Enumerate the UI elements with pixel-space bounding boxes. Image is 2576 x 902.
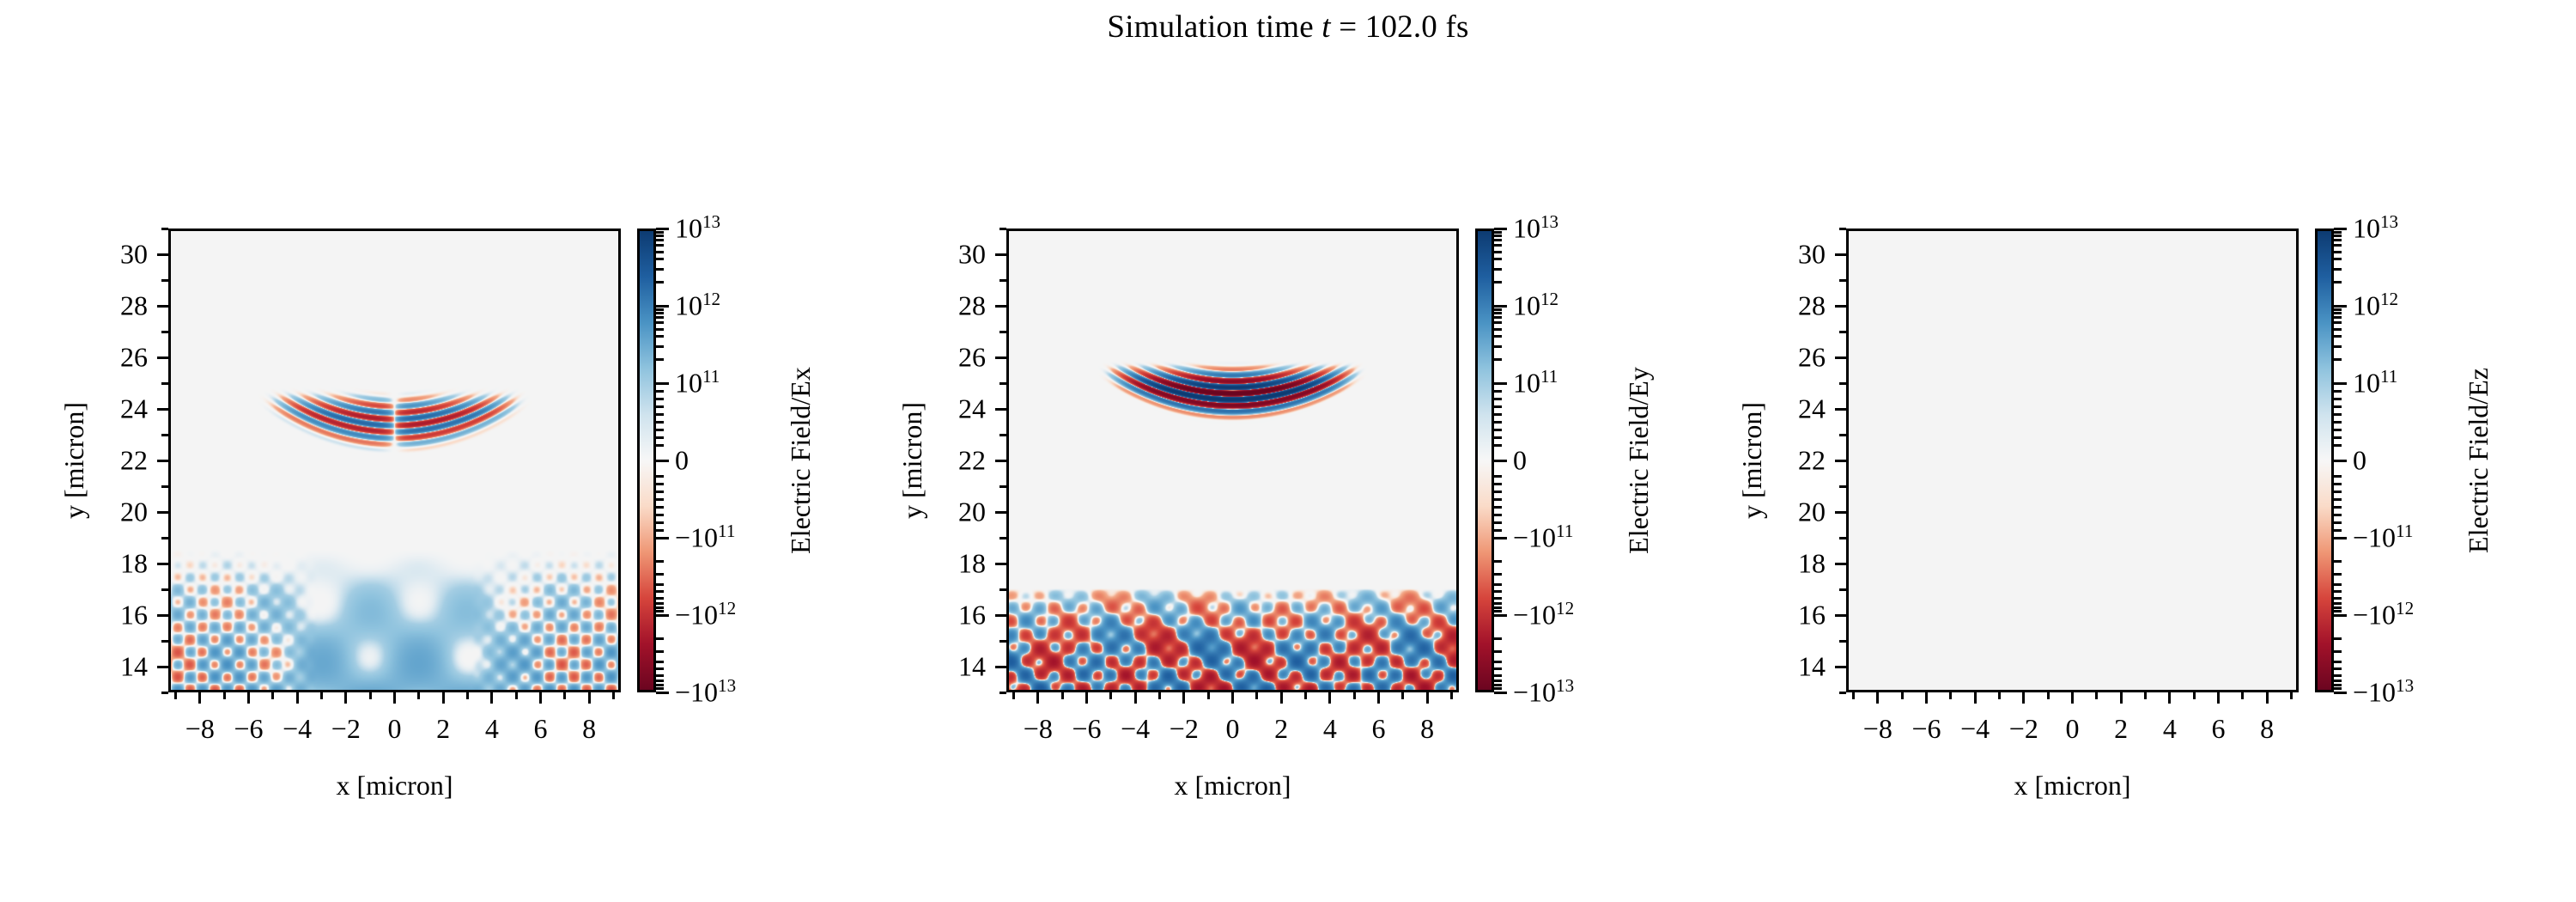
colorbar-ticklabel-ez-2: 1011 (2353, 368, 2397, 399)
colorbar-ticklabel-ey-3: 0 (1513, 445, 1527, 477)
colorbar-minortick-ey-0 (1494, 444, 1502, 447)
xtick-major-ez-3 (2022, 692, 2025, 704)
xtick-minor-ey--1 (1207, 692, 1210, 699)
ytick-major-ez-3 (1835, 408, 1846, 411)
colorbar-minortick-ex-13 (656, 521, 664, 524)
colorbar-minortick-ey-12 (1494, 398, 1502, 400)
ytick-label-ez-6: 18 (1776, 548, 1826, 580)
colorbar-minortick-ey-40 (1494, 244, 1502, 247)
xaxis-label-ex: x [micron] (337, 770, 453, 801)
colorbar-minortick-ey-24 (1494, 321, 1502, 324)
colorbar-minortick-ex-1 (656, 475, 664, 478)
ytick-minor-ez-31 (1839, 228, 1846, 230)
xtick-major-ex-1 (247, 692, 250, 704)
xtick-major-ez-5 (2120, 692, 2123, 704)
colorbar-minortick-ex-19 (656, 573, 664, 576)
ytick-minor-ex-27 (161, 331, 168, 333)
ytick-minor-ey-31 (999, 228, 1006, 230)
field-heatmap-ex (171, 231, 618, 690)
colorbar-tick-ex-3 (656, 460, 669, 462)
colorbar-minortick-ex-27 (656, 602, 664, 605)
xtick-major-ey-1 (1085, 692, 1088, 704)
colorbar-minortick-ez-46 (2334, 231, 2342, 234)
ytick-label-ez-0: 30 (1776, 239, 1826, 271)
plot-area-ey (1006, 229, 1459, 692)
ytick-minor-ez-13 (1839, 692, 1846, 694)
xtick-label-ey-8: 8 (1420, 713, 1434, 745)
ytick-major-ex-1 (157, 305, 168, 308)
xtick-label-ez-2: −4 (1960, 713, 1990, 745)
colorbar-minortick-ey-7 (1494, 498, 1502, 501)
xtick-major-ez-1 (1925, 692, 1928, 704)
ytick-minor-ex-31 (161, 228, 168, 230)
xtick-major-ez-6 (2168, 692, 2171, 704)
colorbar-tick-ez-2 (2334, 382, 2347, 385)
plot-area-ez (1846, 229, 2299, 692)
colorbar-minortick-ez-40 (2334, 244, 2342, 247)
colorbar-minortick-ex-7 (656, 498, 664, 501)
colorbar-tick-ex-1 (656, 305, 669, 308)
colorbar-tick-ey-6 (1494, 692, 1507, 694)
ytick-label-ez-5: 20 (1776, 497, 1826, 528)
colorbar-minortick-ex-22 (656, 328, 664, 331)
colorbar-minortick-ey-4 (1494, 429, 1502, 431)
xtick-major-ez-8 (2266, 692, 2269, 704)
ytick-label-ex-0: 30 (98, 239, 148, 271)
colorbar-minortick-ez-8 (2334, 413, 2342, 416)
xtick-label-ez-1: −6 (1911, 713, 1941, 745)
ytick-major-ez-4 (1835, 460, 1846, 462)
colorbar-ticklabel-ez-1: 1012 (2353, 290, 2398, 322)
xtick-minor-ez--5 (1949, 692, 1952, 699)
xtick-minor-ex-7 (563, 692, 566, 699)
ytick-major-ex-0 (157, 253, 168, 256)
colorbar-minortick-ex-12 (656, 398, 664, 400)
ytick-minor-ez-23 (1839, 434, 1846, 436)
colorbar-minortick-ez-38 (2334, 251, 2342, 253)
xtick-label-ez-3: −2 (2009, 713, 2038, 745)
xtick-major-ey-2 (1134, 692, 1137, 704)
colorbar-minortick-ey-45 (1494, 684, 1502, 686)
xtick-major-ex-8 (588, 692, 591, 704)
ytick-major-ez-1 (1835, 305, 1846, 308)
ytick-major-ey-1 (995, 305, 1006, 308)
colorbar-ticklabel-ex-3: 0 (675, 445, 689, 477)
colorbar-tick-ex-6 (656, 692, 669, 694)
xtick-major-ey-6 (1328, 692, 1331, 704)
xtick-label-ez-7: 6 (2212, 713, 2226, 745)
colorbar-minortick-ey-9 (1494, 506, 1502, 509)
xtick-minor-ex-1 (417, 692, 420, 699)
colorbar-minortick-ez-3 (2334, 483, 2342, 485)
ytick-minor-ex-19 (161, 537, 168, 539)
colorbar-tick-ez-4 (2334, 537, 2347, 539)
colorbar-minortick-ex-17 (656, 560, 664, 563)
xtick-label-ey-1: −6 (1072, 713, 1101, 745)
colorbar-minortick-ez-14 (2334, 390, 2342, 393)
ytick-label-ez-7: 16 (1776, 600, 1826, 631)
xtick-minor-ex--1 (369, 692, 372, 699)
ytick-label-ey-1: 28 (936, 290, 986, 322)
title-variable: t (1321, 9, 1330, 45)
colorbar-minortick-ey-35 (1494, 650, 1502, 653)
ytick-label-ey-3: 24 (936, 393, 986, 425)
colorbar-minortick-ez-24 (2334, 321, 2342, 324)
plot-area-ex (168, 229, 621, 692)
xtick-minor-ey--9 (1012, 692, 1015, 699)
xtick-major-ez-2 (1974, 692, 1977, 704)
colorbar-tick-ez-6 (2334, 692, 2347, 694)
xtick-minor-ex--3 (320, 692, 323, 699)
colorbar-tick-ez-3 (2334, 460, 2347, 462)
colorbar-minortick-ez-43 (2334, 680, 2342, 682)
colorbar-minortick-ez-27 (2334, 602, 2342, 605)
colorbar-title-ex: Electric Field/Ex (785, 367, 817, 554)
ytick-major-ex-4 (157, 460, 168, 462)
colorbar-ticklabel-ey-2: 1011 (1513, 368, 1558, 399)
xtick-minor-ey-9 (1450, 692, 1453, 699)
colorbar-minortick-ez-45 (2334, 684, 2342, 686)
yaxis-label-ex: y [micron] (58, 402, 90, 519)
ytick-major-ez-0 (1835, 253, 1846, 256)
colorbar-minortick-ez-15 (2334, 529, 2342, 532)
ytick-minor-ey-19 (999, 537, 1006, 539)
ytick-minor-ey-25 (999, 382, 1006, 385)
colorbar-minortick-ez-35 (2334, 650, 2342, 653)
colorbar-minortick-ex-8 (656, 413, 664, 416)
xtick-minor-ez-3 (2144, 692, 2147, 699)
colorbar-minortick-ey-1 (1494, 475, 1502, 478)
colorbar-tick-ey-3 (1494, 460, 1507, 462)
colorbar-ex (637, 229, 656, 692)
page-title: Simulation time t = 102.0 fs (0, 9, 2576, 46)
colorbar-minortick-ey-46 (1494, 231, 1502, 234)
xtick-label-ez-4: 0 (2066, 713, 2080, 745)
colorbar-minortick-ez-10 (2334, 405, 2342, 408)
ytick-major-ez-2 (1835, 357, 1846, 359)
colorbar-minortick-ey-34 (1494, 268, 1502, 271)
ytick-label-ex-4: 22 (98, 445, 148, 477)
colorbar-minortick-ez-22 (2334, 328, 2342, 331)
colorbar-minortick-ez-42 (2334, 239, 2342, 241)
ytick-label-ey-7: 16 (936, 600, 986, 631)
ytick-label-ez-3: 24 (1776, 393, 1826, 425)
ytick-label-ey-0: 30 (936, 239, 986, 271)
ytick-major-ey-0 (995, 253, 1006, 256)
xtick-major-ez-0 (1876, 692, 1879, 704)
ytick-minor-ez-17 (1839, 588, 1846, 591)
ytick-label-ex-7: 16 (98, 600, 148, 631)
colorbar-minortick-ey-26 (1494, 316, 1502, 319)
xtick-label-ez-8: 8 (2260, 713, 2274, 745)
ytick-label-ex-5: 20 (98, 497, 148, 528)
colorbar-minortick-ey-22 (1494, 328, 1502, 331)
colorbar-ticklabel-ez-0: 1013 (2353, 213, 2398, 245)
xtick-minor-ez-5 (2193, 692, 2196, 699)
xtick-label-ey-7: 6 (1372, 713, 1386, 745)
ytick-major-ey-2 (995, 357, 1006, 359)
xtick-label-ex-4: 0 (388, 713, 402, 745)
colorbar-minortick-ex-16 (656, 358, 664, 361)
xtick-minor-ex-9 (612, 692, 615, 699)
colorbar-ticklabel-ex-5: −1012 (675, 600, 736, 631)
colorbar-minortick-ex-6 (656, 421, 664, 424)
xtick-label-ey-0: −8 (1024, 713, 1053, 745)
colorbar-minortick-ez-21 (2334, 583, 2342, 586)
colorbar-minortick-ex-34 (656, 268, 664, 271)
colorbar-minortick-ey-10 (1494, 405, 1502, 408)
colorbar-minortick-ez-7 (2334, 498, 2342, 501)
colorbar-ticklabel-ez-3: 0 (2353, 445, 2366, 477)
xtick-minor-ey--5 (1109, 692, 1112, 699)
colorbar-minortick-ez-16 (2334, 358, 2342, 361)
xtick-label-ey-5: 2 (1274, 713, 1288, 745)
colorbar-ticklabel-ey-4: −1011 (1513, 522, 1573, 554)
colorbar-minortick-ez-18 (2334, 345, 2342, 348)
xtick-major-ez-4 (2071, 692, 2074, 704)
colorbar-minortick-ey-5 (1494, 491, 1502, 493)
xtick-minor-ez--1 (2047, 692, 2050, 699)
ytick-major-ey-5 (995, 511, 1006, 514)
colorbar-minortick-ez-5 (2334, 491, 2342, 493)
xtick-minor-ez--9 (1852, 692, 1855, 699)
ytick-major-ez-7 (1835, 614, 1846, 617)
colorbar-minortick-ey-6 (1494, 421, 1502, 424)
colorbar-minortick-ex-24 (656, 321, 664, 324)
colorbar-minortick-ey-25 (1494, 597, 1502, 600)
xtick-minor-ez--7 (1901, 692, 1904, 699)
ytick-minor-ex-15 (161, 640, 168, 643)
colorbar-minortick-ey-36 (1494, 258, 1502, 260)
ytick-label-ex-3: 24 (98, 393, 148, 425)
colorbar-minortick-ey-43 (1494, 680, 1502, 682)
ytick-major-ez-8 (1835, 666, 1846, 668)
colorbar-minortick-ex-39 (656, 667, 664, 670)
title-value: = 102.0 fs (1331, 9, 1469, 45)
colorbar-minortick-ez-29 (2334, 606, 2342, 609)
colorbar-tick-ex-2 (656, 382, 669, 385)
colorbar-minortick-ez-31 (2334, 610, 2342, 613)
xtick-label-ex-3: −2 (331, 713, 361, 745)
colorbar-ticklabel-ey-5: −1012 (1513, 600, 1574, 631)
colorbar-minortick-ez-25 (2334, 597, 2342, 600)
colorbar-minortick-ex-36 (656, 258, 664, 260)
colorbar-minortick-ex-35 (656, 650, 664, 653)
colorbar-minortick-ex-9 (656, 506, 664, 509)
colorbar-minortick-ez-2 (2334, 436, 2342, 439)
xtick-major-ey-3 (1182, 692, 1185, 704)
colorbar-minortick-ey-47 (1494, 687, 1502, 690)
xtick-label-ez-5: 2 (2114, 713, 2128, 745)
colorbar-minortick-ex-3 (656, 483, 664, 485)
field-heatmap-ey (1009, 231, 1456, 690)
colorbar-minortick-ez-13 (2334, 521, 2342, 524)
colorbar-minortick-ex-28 (656, 312, 664, 314)
xtick-minor-ey-5 (1353, 692, 1356, 699)
ytick-minor-ey-13 (999, 692, 1006, 694)
colorbar-minortick-ex-38 (656, 251, 664, 253)
colorbar-minortick-ez-4 (2334, 429, 2342, 431)
colorbar-minortick-ex-15 (656, 529, 664, 532)
colorbar-minortick-ey-39 (1494, 667, 1502, 670)
colorbar-minortick-ex-44 (656, 235, 664, 237)
colorbar-ez (2315, 229, 2334, 692)
colorbar-minortick-ez-33 (2334, 637, 2342, 640)
xtick-label-ex-8: 8 (582, 713, 596, 745)
ytick-major-ex-2 (157, 357, 168, 359)
colorbar-minortick-ey-3 (1494, 483, 1502, 485)
colorbar-minortick-ey-11 (1494, 514, 1502, 516)
colorbar-gradient-ez (2318, 231, 2331, 690)
xtick-minor-ez-7 (2241, 692, 2244, 699)
ytick-label-ez-2: 26 (1776, 342, 1826, 374)
colorbar-minortick-ez-44 (2334, 235, 2342, 237)
ytick-minor-ex-13 (161, 692, 168, 694)
xtick-major-ex-4 (393, 692, 396, 704)
ytick-major-ez-6 (1835, 563, 1846, 565)
field-heatmap-ez (1849, 231, 2296, 690)
xtick-label-ex-7: 6 (534, 713, 548, 745)
colorbar-minortick-ex-33 (656, 637, 664, 640)
colorbar-minortick-ey-23 (1494, 590, 1502, 593)
xtick-minor-ex-3 (466, 692, 469, 699)
colorbar-minortick-ey-15 (1494, 529, 1502, 532)
xtick-label-ez-0: −8 (1863, 713, 1893, 745)
xtick-label-ex-1: −6 (234, 713, 263, 745)
colorbar-minortick-ex-4 (656, 429, 664, 431)
colorbar-minortick-ey-17 (1494, 560, 1502, 563)
xtick-major-ey-5 (1280, 692, 1283, 704)
xtick-major-ez-7 (2217, 692, 2220, 704)
colorbar-tick-ey-4 (1494, 537, 1507, 539)
colorbar-minortick-ex-23 (656, 590, 664, 593)
colorbar-tick-ey-0 (1494, 228, 1507, 230)
ytick-minor-ey-21 (999, 485, 1006, 488)
ytick-major-ex-3 (157, 408, 168, 411)
ytick-major-ey-7 (995, 614, 1006, 617)
colorbar-minortick-ex-31 (656, 610, 664, 613)
colorbar-tick-ez-0 (2334, 228, 2347, 230)
colorbar-minortick-ex-10 (656, 405, 664, 408)
colorbar-minortick-ez-28 (2334, 312, 2342, 314)
xtick-label-ey-3: −2 (1170, 713, 1199, 745)
xtick-label-ex-2: −4 (283, 713, 312, 745)
colorbar-tick-ey-2 (1494, 382, 1507, 385)
colorbar-minortick-ez-41 (2334, 674, 2342, 677)
colorbar-minortick-ex-26 (656, 316, 664, 319)
colorbar-ey (1475, 229, 1494, 692)
ytick-major-ey-4 (995, 460, 1006, 462)
colorbar-minortick-ey-38 (1494, 251, 1502, 253)
colorbar-minortick-ez-6 (2334, 421, 2342, 424)
colorbar-minortick-ex-40 (656, 244, 664, 247)
colorbar-tick-ez-5 (2334, 614, 2347, 617)
colorbar-minortick-ey-19 (1494, 573, 1502, 576)
ytick-major-ey-3 (995, 408, 1006, 411)
yaxis-label-ez: y [micron] (1736, 402, 1768, 519)
xtick-major-ex-2 (296, 692, 299, 704)
ytick-minor-ez-27 (1839, 331, 1846, 333)
ytick-minor-ey-23 (999, 434, 1006, 436)
colorbar-minortick-ex-42 (656, 239, 664, 241)
colorbar-minortick-ey-31 (1494, 610, 1502, 613)
ytick-label-ez-4: 22 (1776, 445, 1826, 477)
xtick-minor-ez-1 (2095, 692, 2098, 699)
colorbar-minortick-ex-20 (656, 335, 664, 338)
colorbar-minortick-ey-18 (1494, 345, 1502, 348)
title-prefix: Simulation time (1107, 9, 1321, 45)
colorbar-minortick-ex-47 (656, 687, 664, 690)
colorbar-tick-ex-4 (656, 537, 669, 539)
colorbar-minortick-ez-30 (2334, 308, 2342, 311)
colorbar-tick-ey-1 (1494, 305, 1507, 308)
xtick-minor-ex--5 (271, 692, 274, 699)
colorbar-minortick-ey-29 (1494, 606, 1502, 609)
xtick-minor-ey--3 (1158, 692, 1161, 699)
colorbar-ticklabel-ex-1: 1012 (675, 290, 720, 322)
colorbar-minortick-ex-30 (656, 308, 664, 311)
colorbar-minortick-ex-21 (656, 583, 664, 586)
xtick-label-ex-6: 4 (485, 713, 499, 745)
colorbar-minortick-ez-11 (2334, 514, 2342, 516)
xtick-minor-ez--3 (1998, 692, 2001, 699)
colorbar-minortick-ey-20 (1494, 335, 1502, 338)
colorbar-minortick-ez-39 (2334, 667, 2342, 670)
colorbar-minortick-ex-37 (656, 661, 664, 663)
colorbar-minortick-ey-32 (1494, 281, 1502, 283)
colorbar-minortick-ez-20 (2334, 335, 2342, 338)
ytick-major-ex-7 (157, 614, 168, 617)
colorbar-minortick-ez-1 (2334, 475, 2342, 478)
colorbar-ticklabel-ez-5: −1012 (2353, 600, 2414, 631)
colorbar-minortick-ey-16 (1494, 358, 1502, 361)
colorbar-minortick-ey-33 (1494, 637, 1502, 640)
ytick-minor-ez-15 (1839, 640, 1846, 643)
colorbar-minortick-ex-32 (656, 281, 664, 283)
colorbar-minortick-ey-13 (1494, 521, 1502, 524)
xtick-major-ex-3 (344, 692, 347, 704)
xtick-label-ey-2: −4 (1121, 713, 1150, 745)
xaxis-label-ey: x [micron] (1175, 770, 1291, 801)
xtick-minor-ex--9 (174, 692, 177, 699)
ytick-label-ex-6: 18 (98, 548, 148, 580)
ytick-major-ez-5 (1835, 511, 1846, 514)
colorbar-gradient-ex (640, 231, 653, 690)
ytick-major-ex-5 (157, 511, 168, 514)
colorbar-ticklabel-ey-0: 1013 (1513, 213, 1558, 245)
colorbar-tick-ey-5 (1494, 614, 1507, 617)
colorbar-minortick-ex-2 (656, 436, 664, 439)
xtick-minor-ey--7 (1061, 692, 1064, 699)
xtick-major-ey-8 (1426, 692, 1429, 704)
ytick-minor-ez-29 (1839, 279, 1846, 282)
ytick-label-ey-4: 22 (936, 445, 986, 477)
xtick-label-ey-6: 4 (1323, 713, 1337, 745)
xtick-minor-ey-1 (1255, 692, 1258, 699)
ytick-label-ey-2: 26 (936, 342, 986, 374)
colorbar-minortick-ex-11 (656, 514, 664, 516)
xtick-minor-ex-5 (515, 692, 518, 699)
colorbar-minortick-ez-34 (2334, 268, 2342, 271)
xtick-major-ex-0 (198, 692, 201, 704)
colorbar-minortick-ez-12 (2334, 398, 2342, 400)
colorbar-minortick-ex-14 (656, 390, 664, 393)
xtick-major-ex-6 (490, 692, 493, 704)
colorbar-minortick-ey-21 (1494, 583, 1502, 586)
colorbar-minortick-ey-30 (1494, 308, 1502, 311)
colorbar-ticklabel-ex-6: −1013 (675, 677, 736, 709)
xtick-major-ex-7 (539, 692, 542, 704)
